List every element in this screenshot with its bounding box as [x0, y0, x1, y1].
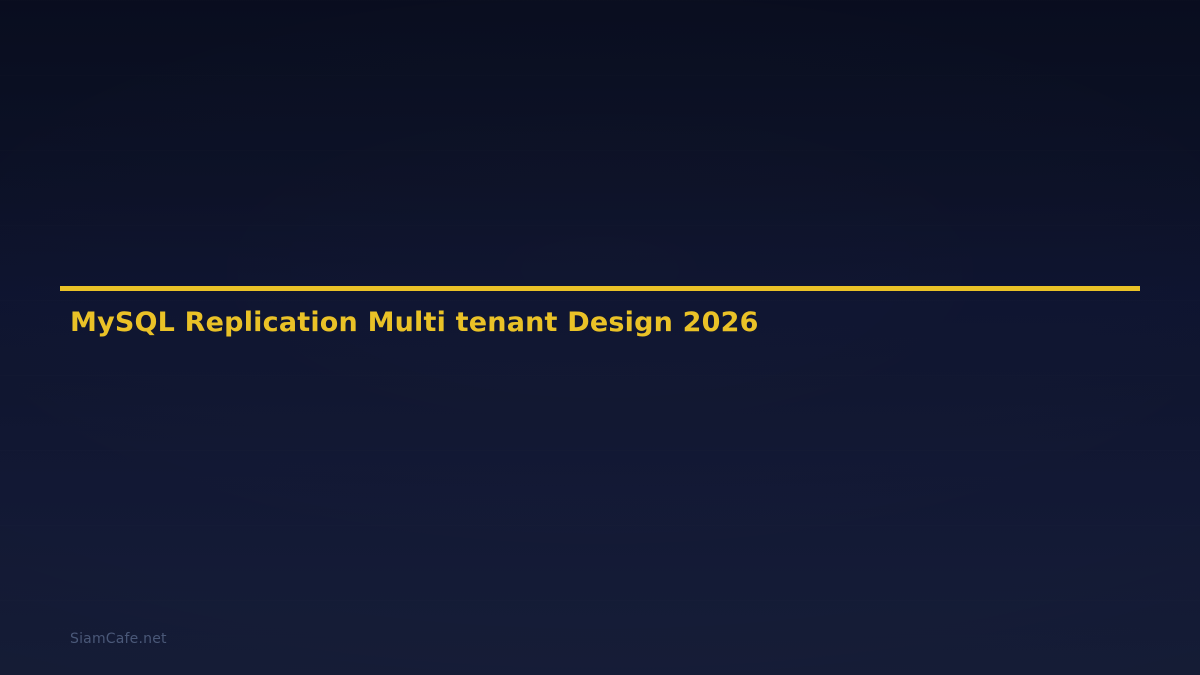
- gold-accent-rule: [60, 286, 1140, 291]
- title-block: MySQL Replication Multi tenant Design 20…: [70, 306, 1150, 340]
- title-slide: MySQL Replication Multi tenant Design 20…: [0, 0, 1200, 675]
- footer-brand: SiamCafe.net: [70, 630, 167, 648]
- page-title: MySQL Replication Multi tenant Design 20…: [70, 306, 1150, 340]
